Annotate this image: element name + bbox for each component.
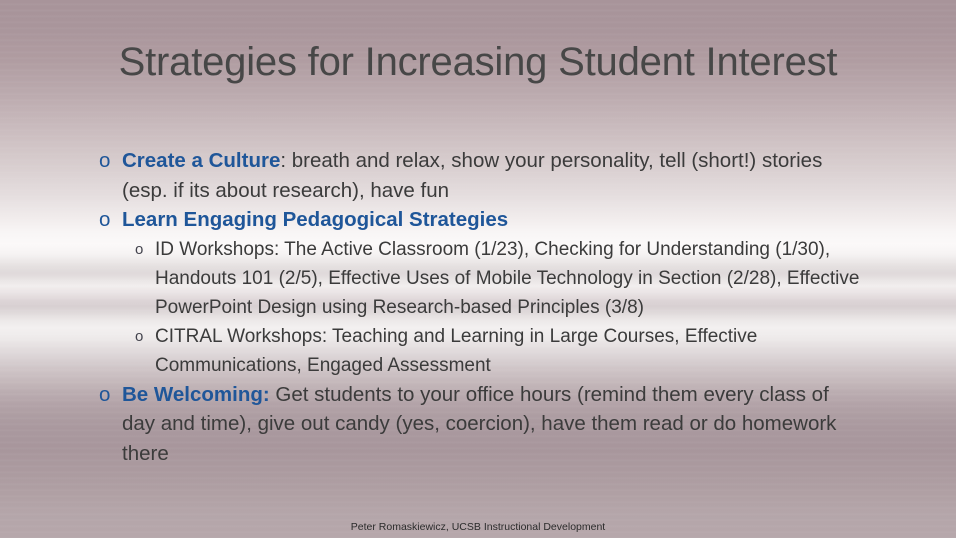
sub-bullet-text: ID Workshops: The Active Classroom (1/23… xyxy=(155,239,859,318)
sub-bullet-item: oCITRAL Workshops: Teaching and Learning… xyxy=(0,322,956,380)
sub-bullet-group: oID Workshops: The Active Classroom (1/2… xyxy=(0,235,956,380)
page-title: Strategies for Increasing Student Intere… xyxy=(0,40,956,85)
sub-bullet-text: CITRAL Workshops: Teaching and Learning … xyxy=(155,326,757,376)
bullet-marker-icon: o xyxy=(99,205,110,235)
bullet-item: oCreate a Culture: breath and relax, sho… xyxy=(0,146,956,205)
bullet-marker-icon: o xyxy=(99,380,110,410)
bullet-item: oBe Welcoming: Get students to your offi… xyxy=(0,380,956,469)
bullet-item: oLearn Engaging Pedagogical Strategies xyxy=(0,205,956,235)
slide-canvas: Strategies for Increasing Student Intere… xyxy=(0,0,956,538)
bullet-highlight: Be Welcoming: xyxy=(122,383,270,406)
slide-body: oCreate a Culture: breath and relax, sho… xyxy=(0,146,956,468)
sub-bullet-marker-icon: o xyxy=(135,322,143,351)
sub-bullet-marker-icon: o xyxy=(135,235,143,264)
slide-footer: Peter Romaskiewicz, UCSB Instructional D… xyxy=(0,521,956,533)
bullet-highlight: Learn Engaging Pedagogical Strategies xyxy=(122,208,508,231)
sub-bullet-item: oID Workshops: The Active Classroom (1/2… xyxy=(0,235,956,322)
bullet-marker-icon: o xyxy=(99,146,110,176)
bullet-highlight: Create a Culture xyxy=(122,149,280,172)
